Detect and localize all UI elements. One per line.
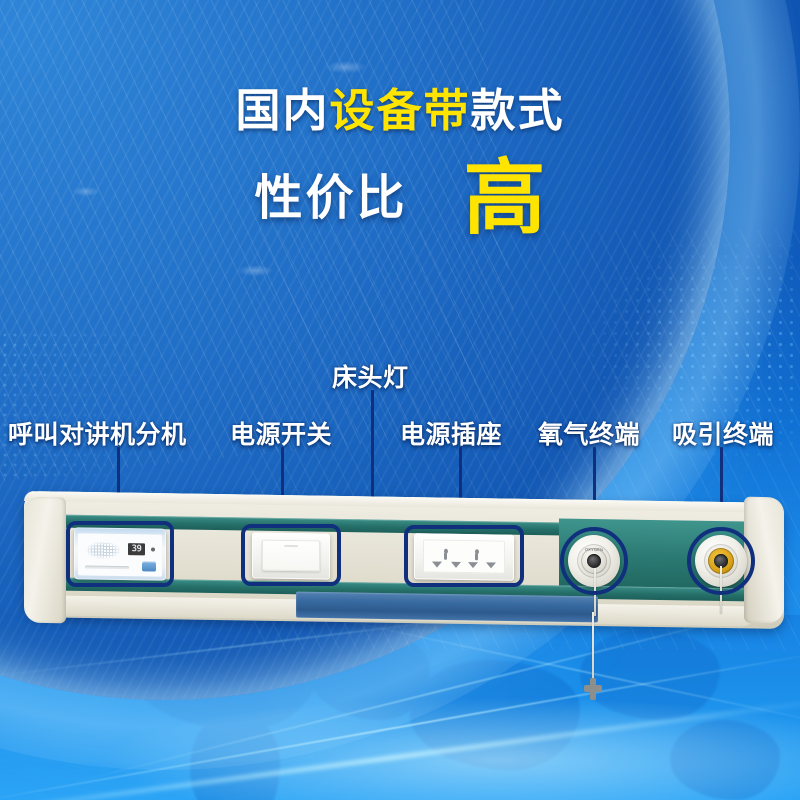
highlight-circle-oxygen <box>560 527 628 595</box>
pull-cord-weight-horizontal <box>584 685 602 692</box>
callout-label-bed-lamp: 床头灯 <box>332 358 409 394</box>
unit-end-cap-left <box>24 497 66 624</box>
pull-cord-weight[interactable] <box>584 678 602 700</box>
highlight-box-power-switch <box>241 524 341 586</box>
headline-row-2: 性价比 高 <box>0 158 800 240</box>
headline-line-2: 性价比 <box>254 175 407 223</box>
halftone-dot-pattern-left <box>0 330 220 480</box>
callout-label-oxygen: 氧气终端 <box>538 415 640 451</box>
unit-blue-light-strip <box>296 592 598 623</box>
headline-block: 国内设备带款式 性价比 高 <box>0 88 800 133</box>
callout-label-intercom: 呼叫对讲机分机 <box>8 415 187 451</box>
callout-label-power-switch: 电源开关 <box>230 415 332 451</box>
highlight-box-power-socket <box>404 525 524 587</box>
highlight-circle-suction <box>687 527 755 595</box>
headline-seg-2: 设备带 <box>329 85 470 136</box>
pull-cord[interactable] <box>592 612 594 684</box>
callout-label-power-socket: 电源插座 <box>400 415 502 451</box>
highlight-box-intercom <box>66 521 174 587</box>
headline-line-1: 国内设备带款式 <box>0 88 800 133</box>
bottom-glow <box>0 680 800 800</box>
callout-label-suction: 吸引终端 <box>672 415 774 451</box>
headline-seg-1: 国内 <box>235 85 329 136</box>
poster-canvas: 国内设备带款式 性价比 高 呼叫对讲机分机 电源开关 床头灯 电源插座 氧气终端… <box>0 0 800 800</box>
headline-emphasis-word: 高 <box>464 158 546 240</box>
headline-seg-3: 款式 <box>471 85 565 136</box>
